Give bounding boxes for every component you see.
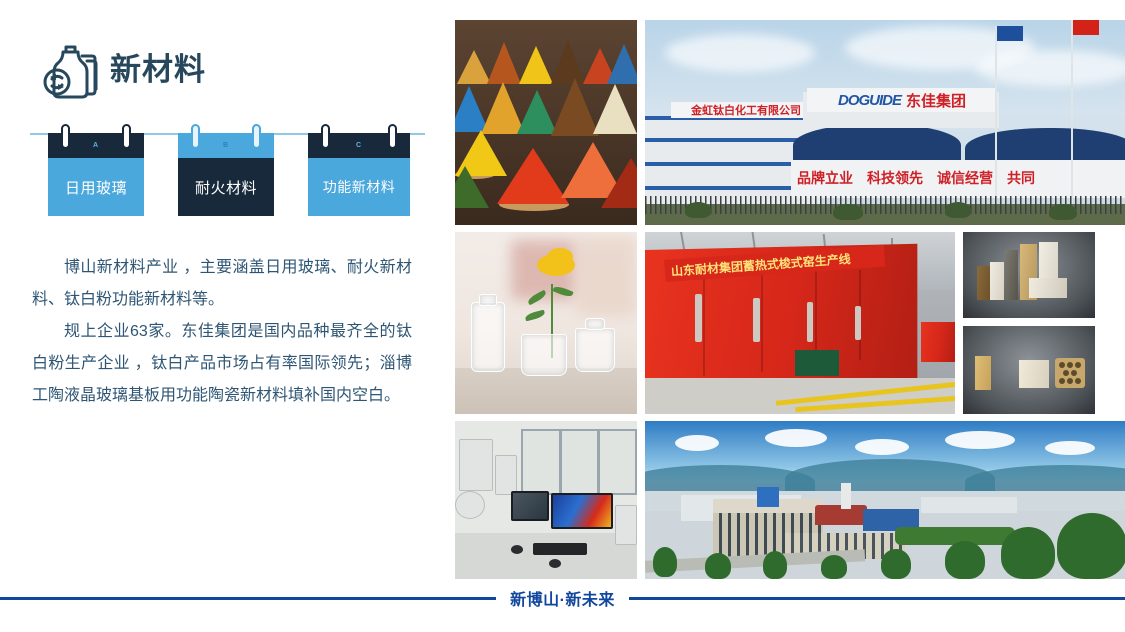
powder-cone	[457, 50, 491, 84]
tree	[821, 555, 847, 579]
instrument-cabinet	[495, 455, 517, 495]
photo-glass-vases	[455, 232, 637, 414]
brick-hole	[1059, 362, 1065, 368]
shrub	[1049, 204, 1077, 220]
clip-ring-right-icon	[122, 124, 131, 149]
card-c-tag: C	[356, 142, 362, 149]
honeycomb-brick	[1055, 358, 1085, 388]
description-paragraph-1: 博山新材料产业 ，主要涵盖日用玻璃、耐火新材料、钛白粉功能新材料等。	[32, 252, 412, 316]
kiln-pipe	[807, 302, 813, 342]
recycled-bottle-icon	[30, 35, 102, 107]
footer-rule-right	[629, 597, 1125, 600]
brick-hole	[1063, 370, 1069, 376]
window-mullion	[597, 429, 600, 495]
left-content-panel: 新材料 A 日用玻璃 B 耐火材料 C	[0, 0, 450, 585]
powder-cone	[607, 44, 637, 84]
clip-ring-right-icon	[252, 124, 261, 149]
brick	[1019, 360, 1049, 388]
mouse	[511, 545, 523, 554]
shrub	[945, 202, 971, 218]
brick	[1029, 278, 1067, 298]
bricks-tall-scene	[963, 232, 1095, 318]
slogan-part-3: 诚信经营	[937, 168, 993, 188]
section-heading: 新材料	[30, 35, 206, 107]
flower-head	[547, 248, 573, 266]
tree	[881, 549, 911, 579]
card-a-label: 日用玻璃	[48, 158, 144, 216]
brick-hole	[1067, 378, 1073, 384]
vases-scene	[455, 232, 637, 414]
screen-left	[513, 493, 547, 519]
clip-ring-left-icon	[191, 124, 200, 149]
shrub	[833, 204, 863, 220]
powder-cone	[519, 46, 553, 84]
cloud	[1045, 441, 1095, 455]
keyboard	[533, 543, 587, 555]
flagpole	[995, 26, 997, 204]
cloud	[945, 431, 1015, 449]
cloud	[675, 435, 719, 451]
card-b-header: B	[178, 133, 274, 158]
microscope-chamber	[455, 491, 485, 519]
monitor-right	[551, 493, 613, 529]
mouse	[549, 559, 561, 568]
factory-slogan: 品牌立业 科技领先 诚信经营 共同	[797, 168, 1035, 188]
slogan-part-4: 共同	[1007, 168, 1035, 188]
shrub	[685, 202, 711, 218]
glass-bottle	[471, 302, 505, 372]
cloud	[765, 429, 827, 447]
glass-jar-lid	[585, 318, 605, 330]
brand-chinese-text: 东佳集团	[906, 90, 966, 111]
slogan-part-1: 品牌立业	[797, 168, 853, 188]
brick	[975, 356, 991, 390]
card-b-label: 耐火材料	[178, 158, 274, 216]
lab-window	[521, 429, 637, 495]
photo-industrial-park-aerial	[645, 421, 1125, 579]
footer-bar: 新博山·新未来	[0, 586, 1125, 610]
card-c-header: C	[308, 133, 410, 158]
equipment-box	[795, 350, 839, 376]
screen-right	[553, 495, 611, 527]
powder-cone	[487, 42, 521, 84]
clip-ring-left-icon	[321, 124, 330, 149]
footer-slogan: 新博山·新未来	[510, 586, 615, 610]
category-card-group: A 日用玻璃 B 耐火材料 C 功能新材料	[30, 125, 425, 215]
photo-materials-lab	[455, 421, 637, 579]
lab-scene	[455, 421, 637, 579]
footer-rule-left	[0, 597, 496, 600]
brick-hole	[1075, 362, 1081, 368]
glass-bottle-neck	[479, 294, 497, 306]
card-a-tag: A	[93, 142, 99, 149]
factory-brand-sign: DOGUIDE 东佳集团	[807, 88, 997, 112]
flag-red	[1073, 20, 1099, 35]
brand-latin-text: DOGUIDE	[838, 92, 901, 109]
tree	[1057, 513, 1125, 579]
clip-ring-right-icon	[388, 124, 397, 149]
slogan-part-2: 科技领先	[867, 168, 923, 188]
card-c-label: 功能新材料	[308, 158, 410, 216]
kiln-panel-divider	[761, 262, 763, 372]
photo-pigment-powders	[455, 20, 637, 225]
photo-doguide-factory: 金虹钛白化工有限公司 DOGUIDE 东佳集团 品牌立业 科技领先 诚信经营 共…	[645, 20, 1125, 225]
tree	[945, 541, 985, 579]
monitor-left	[511, 491, 549, 521]
kiln-scene: 山东耐材集团蓄热式梭式窑生产线	[645, 232, 955, 414]
campus-building	[921, 497, 1017, 513]
campus-scene	[645, 421, 1125, 579]
flag-blue	[997, 26, 1023, 41]
flagpole	[1071, 20, 1073, 204]
kiln-pipe	[855, 306, 861, 340]
brick-hole	[1075, 378, 1081, 384]
kiln-pipe	[695, 294, 702, 342]
description-text: 博山新材料产业 ，主要涵盖日用玻璃、耐火新材料、钛白粉功能新材料等。 规上企业6…	[32, 252, 412, 412]
tree	[653, 547, 677, 577]
powder-cone	[551, 78, 599, 136]
photo-refractory-kiln: 山东耐材集团蓄热式梭式窑生产线	[645, 232, 955, 414]
kiln-pipe	[753, 298, 760, 342]
brick	[992, 352, 1010, 390]
brick-hole	[1059, 378, 1065, 384]
pigment-scene	[455, 20, 637, 225]
factory-company-sign: 金虹钛白化工有限公司	[671, 102, 821, 118]
brick-hole	[1071, 370, 1077, 376]
tree	[705, 553, 731, 579]
page-title: 新材料	[110, 54, 206, 89]
chimney	[841, 483, 851, 509]
cloud	[665, 34, 815, 72]
card-b-tag: B	[223, 142, 229, 149]
window-mullion	[559, 429, 562, 495]
lab-desk	[455, 533, 637, 579]
glass-jar	[575, 328, 615, 372]
glass-tumbler	[521, 334, 567, 376]
kiln-far-unit	[921, 322, 955, 362]
factory-scene: 金虹钛白化工有限公司 DOGUIDE 东佳集团 品牌立业 科技领先 诚信经营 共…	[645, 20, 1125, 225]
brick	[990, 262, 1004, 300]
photo-refractory-bricks-assorted	[963, 326, 1095, 414]
description-paragraph-2: 规上企业63家。东佳集团是国内品种最齐全的钛白粉生产企业 ，钛白产品市场占有率国…	[32, 316, 412, 412]
cloud	[975, 50, 1125, 86]
brick-hole	[1067, 362, 1073, 368]
microscope-column	[459, 439, 493, 491]
brick	[977, 266, 990, 300]
cloud	[855, 439, 909, 455]
category-card-b[interactable]: B 耐火材料	[178, 133, 274, 216]
powder-cone	[455, 166, 489, 208]
card-a-header: A	[48, 133, 144, 158]
tower	[757, 487, 779, 507]
side-equipment	[615, 505, 637, 545]
powder-cone	[497, 148, 569, 204]
bricks-assorted-scene	[963, 326, 1095, 414]
background-blur	[575, 236, 637, 316]
category-card-a[interactable]: A 日用玻璃	[48, 133, 144, 216]
clip-ring-left-icon	[61, 124, 70, 149]
powder-cone	[601, 158, 637, 208]
powder-cone	[593, 84, 637, 134]
photo-refractory-bricks-tall	[963, 232, 1095, 318]
category-card-c[interactable]: C 功能新材料	[308, 133, 410, 216]
brick	[1005, 250, 1018, 300]
tree	[763, 551, 787, 579]
tree	[1001, 527, 1055, 579]
